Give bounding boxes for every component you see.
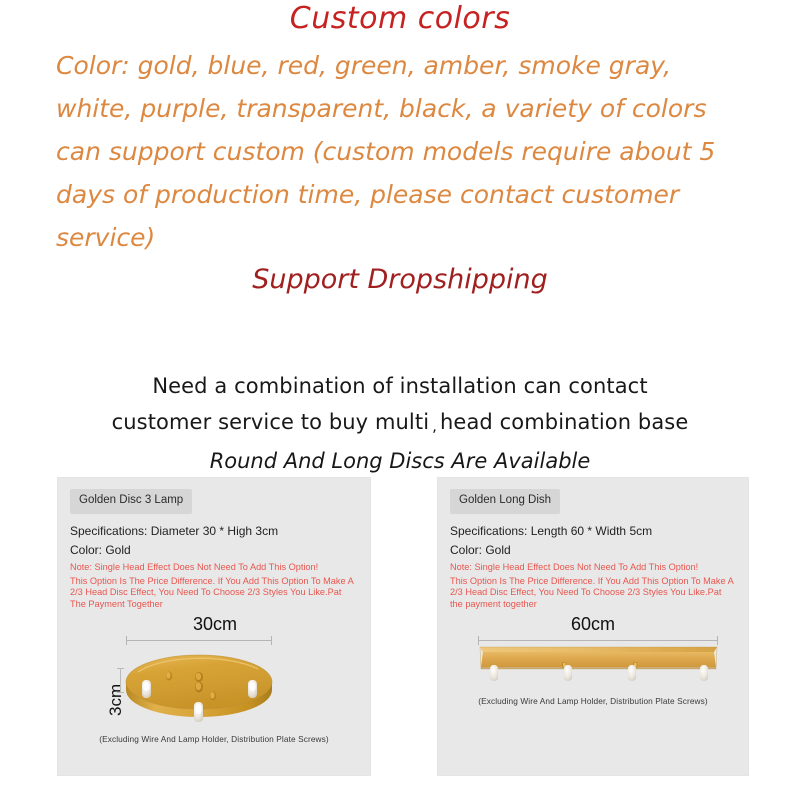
lamp-holder-4 xyxy=(700,665,708,681)
combination-line-1: Need a combination of installation can c… xyxy=(0,368,800,404)
long-dish-illustration xyxy=(438,644,748,704)
promo-subtitle: Support Dropshipping xyxy=(0,265,800,295)
promo-body-text: Color: gold, blue, red, green, amber, sm… xyxy=(0,44,800,259)
length-dimension-label: 60cm xyxy=(528,614,658,635)
golden-disc-diagram: 30cm 3cm xyxy=(58,616,370,766)
combination-line-2-part-a: customer service to buy multi xyxy=(112,410,430,434)
excluding-note: (Excluding Wire And Lamp Holder, Distrib… xyxy=(438,696,748,706)
golden-long-dish-diagram: 60cm xyxy=(438,616,748,766)
lamp-holder-2 xyxy=(564,665,572,681)
promo-block: Custom colors Color: gold, blue, red, gr… xyxy=(0,0,800,295)
product-card-golden-disc[interactable]: Golden Disc 3 Lamp Specifications: Diame… xyxy=(58,478,370,775)
lamp-holder-3 xyxy=(628,665,636,681)
diameter-dimension-label: 30cm xyxy=(150,614,280,635)
product-note-headline: Note: Single Head Effect Does Not Need T… xyxy=(70,561,358,573)
excluding-note: (Excluding Wire And Lamp Holder, Distrib… xyxy=(58,734,370,744)
product-note-body: This Option Is The Price Difference. If … xyxy=(450,576,736,611)
lamp-holder-left xyxy=(142,680,151,698)
discs-available-line: Round And Long Discs Are Available xyxy=(0,446,800,476)
lamp-holder-right xyxy=(248,680,257,698)
lamp-holder-1 xyxy=(490,665,498,681)
combination-info-block: Need a combination of installation can c… xyxy=(0,368,800,476)
product-cards: Golden Disc 3 Lamp Specifications: Diame… xyxy=(0,478,800,778)
product-color-line: Color: Gold xyxy=(70,542,370,558)
product-card-golden-long-dish[interactable]: Golden Long Dish Specifications: Length … xyxy=(438,478,748,775)
product-badge-label: Golden Disc 3 Lamp xyxy=(70,489,192,514)
product-specifications: Specifications: Diameter 30 * High 3cm xyxy=(70,523,370,539)
combination-line-2: customer service to buy multi,head combi… xyxy=(0,404,800,444)
combination-line-2-comma: , xyxy=(429,417,440,435)
product-badge-label: Golden Long Dish xyxy=(450,489,560,514)
lamp-holder-front xyxy=(194,702,203,722)
page-title: Custom colors xyxy=(0,0,800,34)
combination-line-2-part-b: head combination base xyxy=(440,410,688,434)
length-dimension-line xyxy=(478,640,718,641)
product-note-body: This Option Is The Price Difference. If … xyxy=(70,576,358,611)
product-specifications: Specifications: Length 60 * Width 5cm xyxy=(450,523,748,539)
product-note-headline: Note: Single Head Effect Does Not Need T… xyxy=(450,561,736,573)
product-color-line: Color: Gold xyxy=(450,542,748,558)
diameter-dimension-line xyxy=(126,640,272,641)
